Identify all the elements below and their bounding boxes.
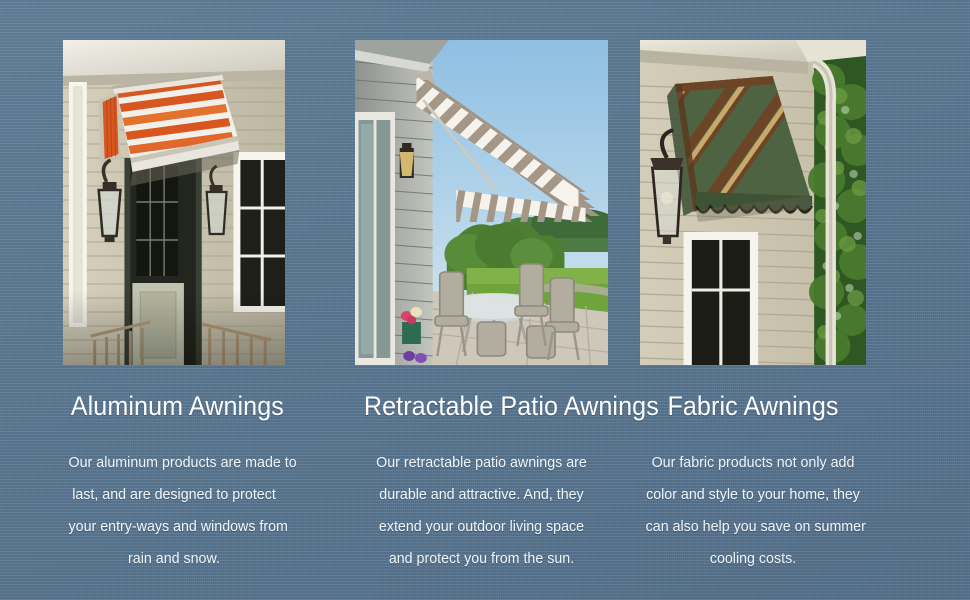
body-line: your entry-ways and windows from — [69, 511, 280, 543]
photo-aluminum-awning — [63, 40, 285, 365]
card-title-retractable: Retractable Patio Awnings — [364, 391, 599, 422]
body-line: Our aluminum products are made to — [69, 447, 280, 479]
card-aluminum: Aluminum Awnings Our aluminum products a… — [0, 0, 330, 600]
body-line: last, and are designed to protect — [69, 479, 280, 511]
card-title-fabric: Fabric Awnings — [648, 391, 858, 422]
card-fabric: Fabric Awnings Our fabric products not o… — [630, 0, 970, 600]
body-line: durable and attractive. And, they — [361, 479, 601, 511]
body-line: Our retractable patio awnings are — [361, 447, 601, 479]
body-line: can also help you save on summer — [646, 511, 861, 543]
body-line: color and style to your home, they — [646, 479, 861, 511]
card-body-retractable: Our retractable patio awnings are durabl… — [361, 447, 601, 575]
body-line: rain and snow. — [69, 543, 280, 575]
card-title-aluminum: Aluminum Awnings — [71, 391, 277, 422]
photo-fabric-awning — [640, 40, 866, 365]
card-retractable: Retractable Patio Awnings Our retractabl… — [330, 0, 630, 600]
body-line: extend your outdoor living space — [361, 511, 601, 543]
body-line: Our fabric products not only add — [646, 447, 861, 479]
awnings-banner: Aluminum Awnings Our aluminum products a… — [0, 0, 970, 600]
card-body-aluminum: Our aluminum products are made to last, … — [69, 447, 280, 575]
photo-retractable-awning — [355, 40, 608, 365]
columns-container: Aluminum Awnings Our aluminum products a… — [0, 0, 970, 600]
card-body-fabric: Our fabric products not only add color a… — [646, 447, 861, 575]
body-line: and protect you from the sun. — [361, 543, 601, 575]
body-line: cooling costs. — [646, 543, 861, 575]
